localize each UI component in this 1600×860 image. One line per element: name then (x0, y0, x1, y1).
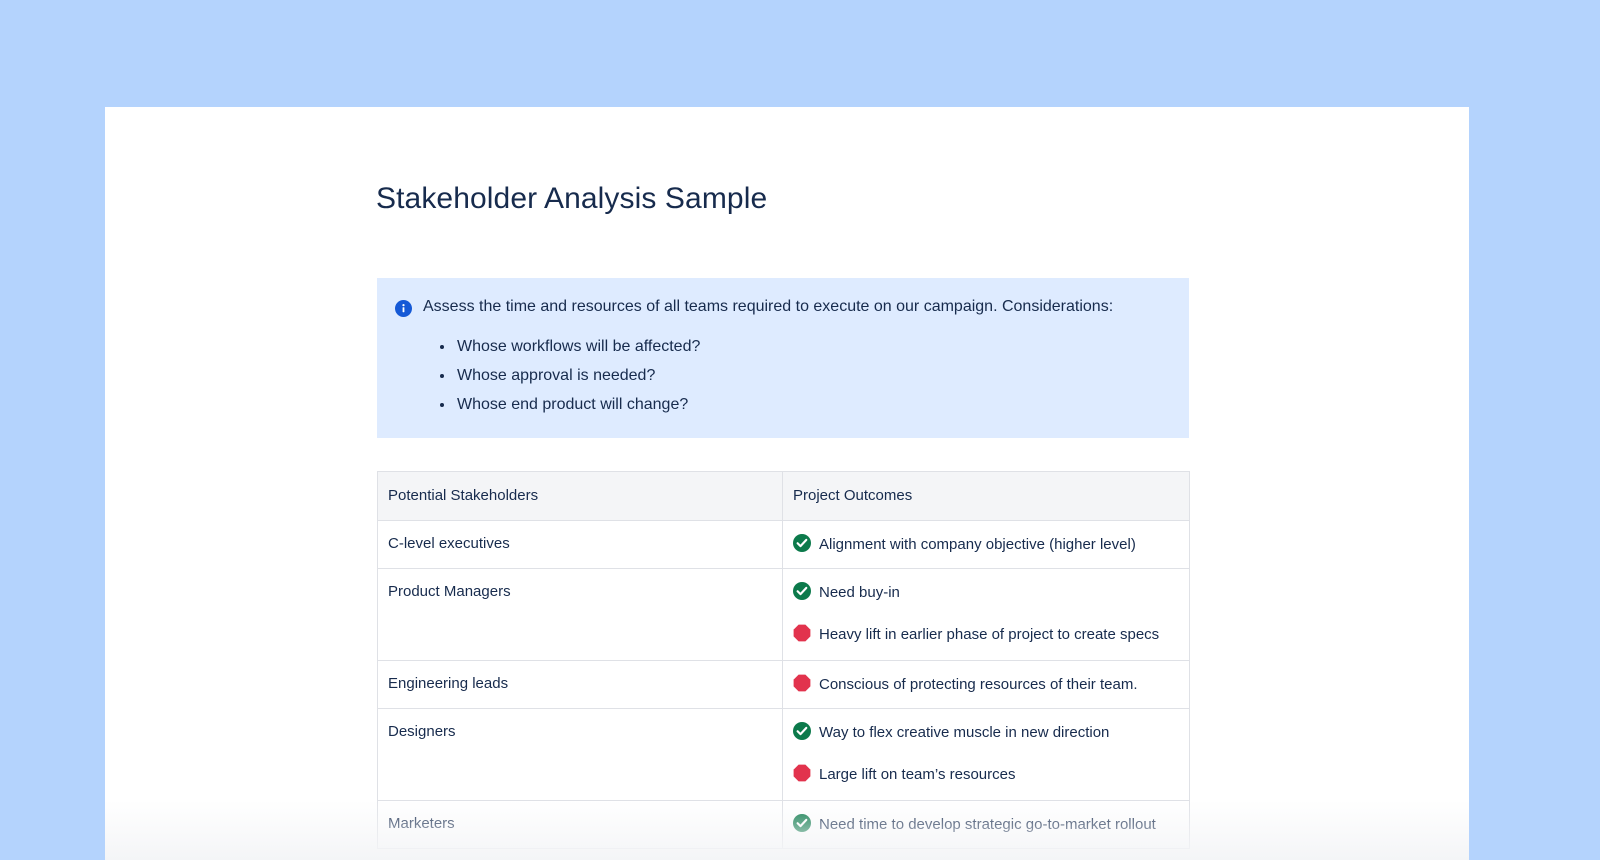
list-item-label: Whose workflows will be affected? (457, 338, 700, 355)
table-body: C-level executives Alignment with compan… (378, 521, 1190, 849)
list-item: Whose approval is needed? (457, 365, 1167, 387)
check-circle-icon (793, 814, 811, 832)
table-row: Marketers Need time to develop strategic… (378, 801, 1190, 849)
column-header-project-outcomes: Project Outcomes (783, 472, 1190, 521)
cell-stakeholder: Marketers (378, 801, 783, 849)
table-row: C-level executives Alignment with compan… (378, 521, 1190, 569)
outcome-label: Need buy-in (819, 582, 900, 603)
cell-outcomes: Conscious of protecting resources of the… (783, 661, 1190, 709)
cell-outcomes: Way to flex creative muscle in new direc… (783, 709, 1190, 801)
outcome-item: Alignment with company objective (higher… (793, 534, 1179, 555)
info-panel-header: Assess the time and resources of all tea… (395, 296, 1167, 318)
cell-stakeholder: Engineering leads (378, 661, 783, 709)
info-panel-bullet-list: Whose workflows will be affected? Whose … (395, 336, 1167, 416)
column-header-potential-stakeholders: Potential Stakeholders (378, 472, 783, 521)
list-item-label: Whose approval is needed? (457, 367, 655, 384)
check-circle-icon (793, 722, 811, 740)
bullet-dot-icon (440, 403, 444, 407)
outcome-label: Heavy lift in earlier phase of project t… (819, 624, 1159, 645)
list-item: Whose workflows will be affected? (457, 336, 1167, 358)
outcome-label: Large lift on team’s resources (819, 764, 1016, 785)
list-item: Whose end product will change? (457, 394, 1167, 416)
cell-stakeholder: Product Managers (378, 569, 783, 661)
outcome-label: Need time to develop strategic go-to-mar… (819, 814, 1156, 835)
bullet-dot-icon (440, 374, 444, 378)
cell-outcomes: Need time to develop strategic go-to-mar… (783, 801, 1190, 849)
table-header-row: Potential Stakeholders Project Outcomes (378, 472, 1190, 521)
table-row: Product Managers Need buy-in (378, 569, 1190, 661)
outcome-label: Conscious of protecting resources of the… (819, 674, 1138, 695)
outcome-label: Alignment with company objective (higher… (819, 534, 1136, 555)
check-circle-icon (793, 582, 811, 600)
outcome-item: Way to flex creative muscle in new direc… (793, 722, 1179, 743)
info-panel: Assess the time and resources of all tea… (377, 278, 1189, 438)
cell-stakeholder: Designers (378, 709, 783, 801)
stop-octagon-icon (793, 764, 811, 782)
table-head: Potential Stakeholders Project Outcomes (378, 472, 1190, 521)
outcome-item: Large lift on team’s resources (793, 764, 1179, 785)
list-item-label: Whose end product will change? (457, 396, 688, 413)
page-title: Stakeholder Analysis Sample (376, 181, 767, 217)
document-page: Stakeholder Analysis Sample Assess the t… (105, 107, 1469, 860)
outcome-item: Conscious of protecting resources of the… (793, 674, 1179, 695)
stakeholder-analysis-table: Potential Stakeholders Project Outcomes … (377, 471, 1190, 849)
cell-outcomes: Alignment with company objective (higher… (783, 521, 1190, 569)
bullet-dot-icon (440, 345, 444, 349)
outcome-item: Need buy-in (793, 582, 1179, 603)
outcome-label: Way to flex creative muscle in new direc… (819, 722, 1109, 743)
page-canvas: Stakeholder Analysis Sample Assess the t… (0, 0, 1600, 860)
table-row: Engineering leads Conscious of protectin… (378, 661, 1190, 709)
table-row: Designers Way to flex creative muscle in… (378, 709, 1190, 801)
cell-outcomes: Need buy-in Heavy lift in earlier phase … (783, 569, 1190, 661)
info-circle-icon (395, 300, 412, 317)
info-panel-intro: Assess the time and resources of all tea… (423, 296, 1113, 318)
cell-stakeholder: C-level executives (378, 521, 783, 569)
stop-octagon-icon (793, 624, 811, 642)
stop-octagon-icon (793, 674, 811, 692)
check-circle-icon (793, 534, 811, 552)
outcome-item: Need time to develop strategic go-to-mar… (793, 814, 1179, 835)
outcome-item: Heavy lift in earlier phase of project t… (793, 624, 1179, 645)
